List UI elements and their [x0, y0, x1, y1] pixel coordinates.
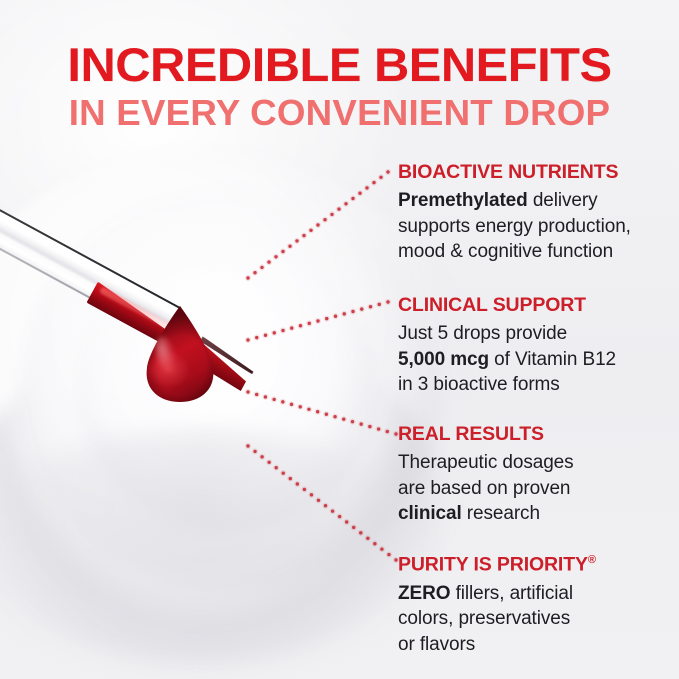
connector-real-results	[245, 389, 399, 437]
benefit-body-line: mood & cognitive function	[398, 239, 670, 265]
connector-clinical-support	[245, 299, 391, 343]
body-text: or flavors	[398, 634, 475, 655]
connector-purity-is-priority	[245, 443, 399, 563]
body-text: Just 5 drops provide	[398, 323, 567, 344]
benefit-body-4: ZERO fillers, artificialcolors, preserva…	[398, 581, 670, 658]
benefit-block-1: BIOACTIVE NUTRIENTS Premethylated delive…	[398, 160, 670, 265]
benefit-body-line: in 3 bioactive forms	[398, 372, 670, 398]
benefit-block-4: PURITY IS PRIORITY® ZERO fillers, artifi…	[398, 548, 670, 657]
benefit-title-1: BIOACTIVE NUTRIENTS	[398, 160, 670, 184]
benefit-body-3: Therapeutic dosagesare based on provencl…	[398, 450, 670, 527]
body-text: fillers, artificial	[450, 583, 573, 604]
emphasis-text: ZERO	[398, 583, 450, 604]
body-text: mood & cognitive function	[398, 241, 613, 262]
benefit-title-3: REAL RESULTS	[398, 422, 670, 446]
benefit-body-line: Just 5 drops provide	[398, 321, 670, 347]
benefit-title-2: CLINICAL SUPPORT	[398, 293, 670, 317]
benefit-body-line: are based on proven	[398, 476, 670, 502]
body-text: research	[462, 503, 540, 524]
benefit-body-1: Premethylated deliverysupports energy pr…	[398, 188, 670, 265]
benefit-title-4: PURITY IS PRIORITY®	[398, 548, 670, 577]
emphasis-text: 5,000 mcg	[398, 349, 489, 370]
benefit-body-line: clinical research	[398, 501, 670, 527]
benefits-infographic: INCREDIBLE BENEFITS IN EVERY CONVENIENT …	[0, 0, 679, 679]
emphasis-text: clinical	[398, 503, 462, 524]
benefit-body-line: ZERO fillers, artificial	[398, 581, 670, 607]
body-text: of Vitamin B12	[489, 349, 616, 370]
body-text: Therapeutic dosages	[398, 452, 574, 473]
benefit-body-line: or flavors	[398, 632, 670, 658]
benefit-body-line: Therapeutic dosages	[398, 450, 670, 476]
benefit-block-2: CLINICAL SUPPORT Just 5 drops provide5,0…	[398, 293, 670, 398]
body-text: in 3 bioactive forms	[398, 374, 560, 395]
benefit-body-2: Just 5 drops provide5,000 mcg of Vitamin…	[398, 321, 670, 398]
body-text: delivery	[528, 190, 598, 211]
emphasis-text: Premethylated	[398, 190, 528, 211]
body-text: are based on proven	[398, 478, 570, 499]
benefit-body-line: colors, preservatives	[398, 606, 670, 632]
benefit-body-line: supports energy production,	[398, 214, 670, 240]
benefit-body-line: Premethylated delivery	[398, 188, 670, 214]
body-text: colors, preservatives	[398, 608, 570, 629]
registered-trademark-icon: ®	[588, 554, 596, 566]
benefit-block-3: REAL RESULTS Therapeutic dosagesare base…	[398, 422, 670, 527]
benefit-body-line: 5,000 mcg of Vitamin B12	[398, 347, 670, 373]
connector-bioactive-nutrients	[245, 169, 391, 281]
body-text: supports energy production,	[398, 216, 631, 237]
